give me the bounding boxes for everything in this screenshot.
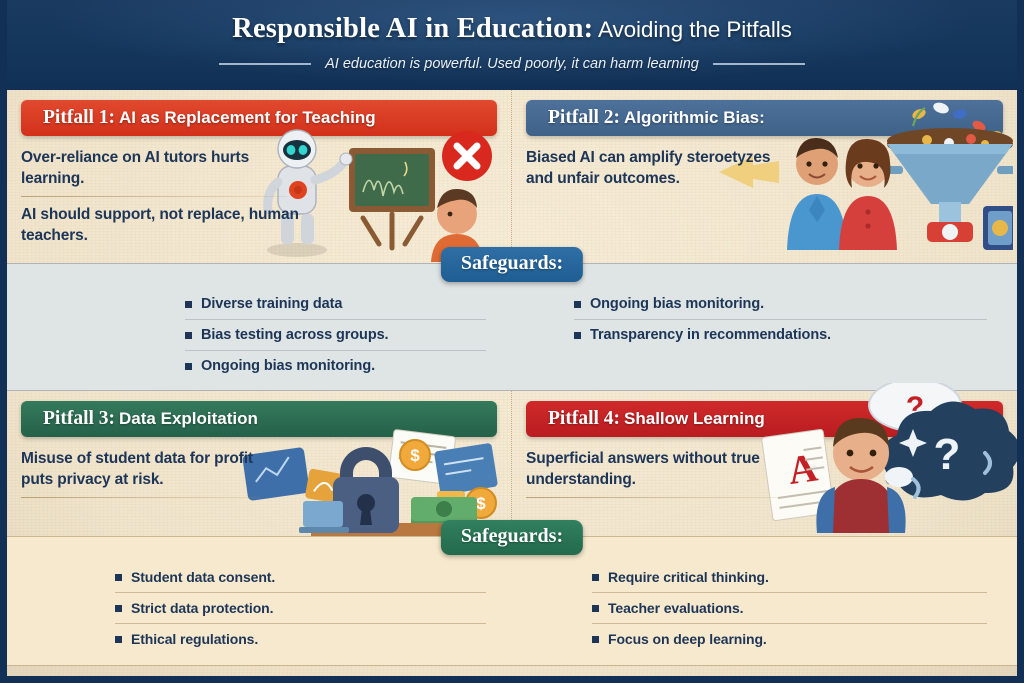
- svg-text:$: $: [476, 494, 486, 513]
- safeguards-badge-bottom: Safeguards:: [441, 520, 583, 555]
- safeguards-panel-top: Safeguards: Diverse training data Bias t…: [7, 263, 1017, 391]
- pitfall-4-divider: [526, 497, 783, 498]
- list-item[interactable]: Ongoing bias monitoring.: [185, 350, 486, 381]
- rule-left: [219, 63, 311, 65]
- bullet-square-icon: [185, 301, 192, 308]
- pitfall-3-body: Misuse of student data for profit puts p…: [21, 449, 278, 498]
- safeguard-text: Ethical regulations.: [131, 631, 258, 647]
- safeguards-columns-top: Diverse training data Bias testing acros…: [37, 284, 987, 390]
- safeguard-text: Require critical thinking.: [608, 569, 769, 585]
- list-item[interactable]: Student data consent.: [115, 561, 486, 592]
- pitfall-4-title: Shallow Learning: [624, 409, 765, 429]
- safeguard-text: Ongoing bias monitoring.: [590, 296, 764, 312]
- safeguard-text: Bias testing across groups.: [201, 327, 388, 343]
- pitfall-2-para-1: Biased AI can amplify steroetyzes and un…: [526, 148, 774, 189]
- pitfall-row-bottom: Pitfall 3: Data Exploitation Misuse of s…: [7, 391, 1017, 536]
- pitfall-3-bar: Pitfall 3: Data Exploitation: [21, 401, 497, 437]
- safeguards-panel-bottom: Safeguards: Student data consent. Strict…: [7, 536, 1017, 666]
- pitfall-1-divider: [21, 196, 287, 197]
- safeguard-text: Transparency in recommendations.: [590, 327, 831, 343]
- pitfall-3-para-1: Misuse of student data for profit puts p…: [21, 449, 278, 490]
- list-item[interactable]: Teacher evaluations.: [592, 592, 987, 623]
- safeguards-top-right-column: Ongoing bias monitoring. Transparency in…: [512, 284, 987, 390]
- list-item[interactable]: Bias testing across groups.: [185, 319, 486, 350]
- pitfall-2-bar: Pitfall 2: Algorithmic Bias:: [526, 100, 1003, 136]
- bullet-square-icon: [574, 301, 581, 308]
- bullet-square-icon: [574, 332, 581, 339]
- pitfall-card-2: Pitfall 2: Algorithmic Bias: Biased AI c…: [512, 90, 1017, 263]
- pitfall-1-label: Pitfall 1:: [43, 107, 115, 129]
- pitfall-4-para-1: Superficial answers without true underst…: [526, 449, 803, 490]
- safeguards-bottom-left-column: Student data consent. Strict data protec…: [37, 557, 512, 665]
- bullet-square-icon: [115, 605, 122, 612]
- bullet-square-icon: [115, 636, 122, 643]
- title-main: Responsible AI in Education:: [232, 13, 593, 44]
- pitfall-card-3: Pitfall 3: Data Exploitation Misuse of s…: [7, 391, 512, 536]
- pitfall-4-body: Superficial answers without true underst…: [526, 449, 803, 498]
- safeguards-bottom-right-column: Require critical thinking. Teacher evalu…: [512, 557, 987, 665]
- pitfall-row-top: Pitfall 1: AI as Replacement for Teachin…: [7, 90, 1017, 263]
- bullet-square-icon: [185, 363, 192, 370]
- safeguards-columns-bottom: Student data consent. Strict data protec…: [37, 557, 987, 665]
- pitfall-2-title: Algorithmic Bias:: [624, 108, 765, 128]
- pitfall-1-bar: Pitfall 1: AI as Replacement for Teachin…: [21, 100, 497, 136]
- infographic-poster: Responsible AI in Education: Avoiding th…: [0, 0, 1024, 683]
- pitfall-3-label: Pitfall 3:: [43, 408, 115, 430]
- list-item[interactable]: Require critical thinking.: [592, 561, 987, 592]
- list-item[interactable]: Ongoing bias monitoring.: [574, 288, 987, 319]
- pitfall-3-divider: [21, 497, 260, 498]
- pitfall-card-4: Pitfall 4: Shallow Learning Superficial …: [512, 391, 1017, 536]
- pitfall-1-para-1: Over-reliance on AI tutors hurts learnin…: [21, 148, 307, 189]
- bullet-square-icon: [592, 605, 599, 612]
- pitfall-card-1: Pitfall 1: AI as Replacement for Teachin…: [7, 90, 512, 263]
- safeguard-text: Teacher evaluations.: [608, 600, 743, 616]
- bullet-square-icon: [115, 574, 122, 581]
- bullet-square-icon: [592, 574, 599, 581]
- list-item[interactable]: Strict data protection.: [115, 592, 486, 623]
- svg-text:$: $: [410, 446, 420, 465]
- safeguard-text: Focus on deep learning.: [608, 631, 767, 647]
- pitfall-2-body: Biased AI can amplify steroetyzes and un…: [526, 148, 774, 189]
- list-item[interactable]: Diverse training data: [185, 288, 486, 319]
- safeguard-text: Student data consent.: [131, 569, 275, 585]
- page-subtitle: AI education is powerful. Used poorly, i…: [325, 56, 699, 72]
- pitfall-2-label: Pitfall 2:: [548, 107, 620, 129]
- pitfall-1-body: Over-reliance on AI tutors hurts learnin…: [21, 148, 307, 246]
- svg-text:?: ?: [934, 430, 961, 479]
- pitfall-4-bar: Pitfall 4: Shallow Learning: [526, 401, 1003, 437]
- poster-header: Responsible AI in Education: Avoiding th…: [7, 0, 1017, 90]
- pitfall-4-label: Pitfall 4:: [548, 408, 620, 430]
- safeguards-badge-top: Safeguards:: [441, 247, 583, 282]
- pitfall-1-para-2: AI should support, not replace, human te…: [21, 205, 307, 246]
- safeguard-text: Ongoing bias monitoring.: [201, 358, 375, 374]
- pitfall-1-title: AI as Replacement for Teaching: [119, 108, 376, 128]
- safeguards-top-left-column: Diverse training data Bias testing acros…: [37, 284, 512, 390]
- safeguard-text: Diverse training data: [201, 296, 342, 312]
- pitfall-3-title: Data Exploitation: [119, 409, 258, 429]
- page-title: Responsible AI in Education: Avoiding th…: [7, 13, 1017, 45]
- list-item[interactable]: Transparency in recommendations.: [574, 319, 987, 350]
- list-item[interactable]: Ethical regulations.: [115, 623, 486, 654]
- bullet-square-icon: [592, 636, 599, 643]
- list-item[interactable]: Focus on deep learning.: [592, 623, 987, 654]
- bullet-square-icon: [185, 332, 192, 339]
- title-subpart: Avoiding the Pitfalls: [598, 17, 792, 42]
- rule-right: [713, 63, 805, 65]
- subtitle-row: AI education is powerful. Used poorly, i…: [7, 56, 1017, 72]
- safeguard-text: Strict data protection.: [131, 600, 273, 616]
